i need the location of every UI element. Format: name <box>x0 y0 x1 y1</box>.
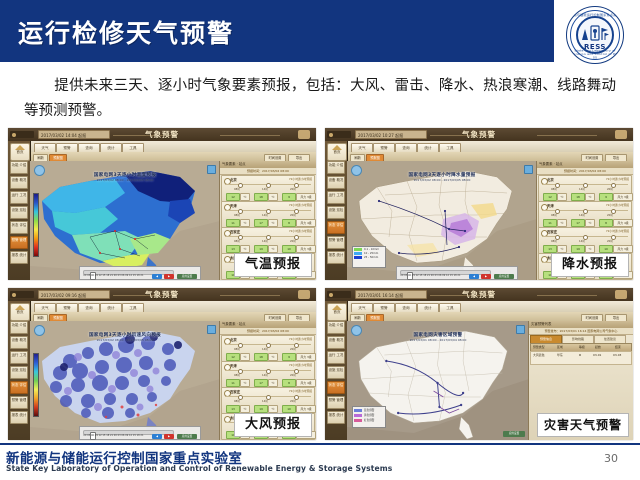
home-icon[interactable] <box>615 290 627 299</box>
nav-home-button[interactable]: 首页 <box>327 143 347 161</box>
panel-caption-wind: 大风预报 <box>234 413 312 437</box>
warning-cell-2: Ⅲ <box>579 353 581 357</box>
timeline-label-a2: 08时 <box>234 399 240 403</box>
page-title: 运行检修天气预警 <box>18 14 234 50</box>
value-chip-b0: 18 <box>254 193 268 201</box>
nav-home-button[interactable]: 首页 <box>327 303 347 321</box>
tab-2[interactable]: 查询 <box>395 143 417 153</box>
tab-1[interactable]: 预警 <box>373 143 395 153</box>
unit-chip-b0: ℃ <box>268 193 278 201</box>
tab-4[interactable]: 工具 <box>439 143 461 153</box>
nav-item-2[interactable]: 运行 工况 <box>10 191 28 204</box>
panel-wind-forecast[interactable]: 2017/03/02 09:16 起报 气象预警 天气 预警 查询 统计 工具 … <box>8 288 316 440</box>
panel-caption-disaster: 灾害天气预警 <box>537 413 629 437</box>
forecast-note-0: 72小时逐小时预报 <box>289 337 312 341</box>
tab-1[interactable]: 预警 <box>373 303 395 313</box>
value-chip-c1: 8 <box>282 219 296 227</box>
timeline-label-b1: 14时 <box>262 373 268 377</box>
tab-1[interactable]: 预警 <box>56 303 78 313</box>
panel-caption-temperature: 气温预报 <box>234 253 312 277</box>
value-chip-a2: 13 <box>226 245 240 253</box>
disaster-legend: 蓝色预警 黄色预警 红色预警 <box>352 406 386 428</box>
value-chip-c1: 8 <box>282 379 296 387</box>
legend-swatch-1 <box>354 252 362 255</box>
time-apply-button[interactable]: 应用设置 <box>177 434 197 439</box>
forecast-values-0: 12 ℃ 18 ℃ 9 风力 3级 <box>224 353 312 359</box>
panel-temperature-forecast[interactable]: 2017/03/02 14:04 起报 气象预警 天气 预警 查询 统计 工具 … <box>8 128 316 280</box>
timeline-label-c2: 20时 <box>290 239 296 243</box>
legend-item-2: 红色预警 <box>354 418 384 422</box>
legend-label-2: 25 - 50mm <box>364 256 378 259</box>
home-icon[interactable] <box>298 130 310 139</box>
value-chip-c0: 9 <box>282 193 296 201</box>
wind-colorbar <box>33 353 39 417</box>
time-prev-button[interactable]: ◀ <box>152 434 162 439</box>
value-chip-b2: 19 <box>254 405 268 413</box>
nav-home-label: 首页 <box>11 150 29 155</box>
unit-chip-b1: ℃ <box>585 219 595 227</box>
forecast-note-0: 72小时逐小时预报 <box>606 177 629 181</box>
home-icon[interactable] <box>298 290 310 299</box>
legend-label-2: 红色预警 <box>364 418 374 422</box>
tab-3[interactable]: 统计 <box>417 303 439 313</box>
unit-chip-b1: ℃ <box>268 219 278 227</box>
tail-chip-2: 风力 3级 <box>613 245 633 253</box>
timeline-label-a0: 08时 <box>234 187 240 191</box>
legend-label-1: 10 - 25mm <box>364 252 378 255</box>
tail-chip-1: 风力 4级 <box>296 219 316 227</box>
timeline-label-b2: 14时 <box>262 239 268 243</box>
nav-item-0[interactable]: 功能 介绍 <box>327 321 345 334</box>
tail-chip-2: 风力 3级 <box>296 405 316 413</box>
legend-swatch-0 <box>354 248 362 251</box>
tab-0[interactable]: 天气 <box>34 143 56 153</box>
value-chip-c1: 8 <box>599 219 613 227</box>
legend-item-1: 黄色预警 <box>354 413 384 417</box>
tab-2[interactable]: 查询 <box>78 303 100 313</box>
map-subtitle: 2017/03/02 08:00 - 2017/03/05 08:00 <box>30 338 220 342</box>
titlebar-rule-right <box>537 295 597 296</box>
value-chip-a0: 12 <box>226 193 240 201</box>
app-nav-rail: 首页 功能 介绍 设备 概况 运行 工况 设施 巡检 状态 评估 预警 管理 报… <box>325 141 348 280</box>
unit-chip-a0: ℃ <box>240 193 250 201</box>
warning-cell-4: 03-03 <box>613 353 621 357</box>
nav-item-4[interactable]: 状态 评估 <box>327 221 345 234</box>
forecast-city-1: 天津 <box>230 203 237 208</box>
unit-chip-a1: ℃ <box>240 219 250 227</box>
table-row[interactable]: 大风蓝色 华东 Ⅲ 03-01 03-03 <box>530 351 632 365</box>
forecast-values-2: 13 ℃ 19 ℃ 10 风力 3级 <box>541 245 629 251</box>
value-chip-c0: 9 <box>599 193 613 201</box>
nav-item-4[interactable]: 状态 评估 <box>327 381 345 394</box>
timeline-label-a1: 08时 <box>234 213 240 217</box>
legend-swatch-1 <box>354 414 362 417</box>
nav-item-4[interactable]: 状态 评估 <box>10 381 28 394</box>
warning-col-0: 预警类型 <box>533 344 545 351</box>
app-titlebar: 2017/03/01 16:14 起报 气象预警 <box>325 288 633 302</box>
forecast-card-2[interactable]: 石家庄 72小时逐小时预报 08时 14时 20时 13 ℃ 19 ℃ 10 <box>221 227 315 254</box>
time-apply-button[interactable]: 应用设置 <box>177 274 197 279</box>
forecast-city-0: 北京 <box>547 177 554 182</box>
nav-item-1[interactable]: 设备 概况 <box>10 336 28 349</box>
timeline-label-a1: 08时 <box>551 213 557 217</box>
forecast-city-1: 天津 <box>547 203 554 208</box>
legend-item-0: 0.1 - 10mm <box>354 248 384 251</box>
nav-item-5[interactable]: 预警 管理 <box>327 396 345 409</box>
footer-divider <box>0 443 640 445</box>
forecast-values-0: 12 ℃ 18 ℃ 9 风力 3级 <box>224 193 312 199</box>
map-time-slider[interactable]: 00 03 06 09 12 15 18 21 00 03 06 09 12 1… <box>79 426 201 440</box>
tail-chip-1: 风力 4级 <box>613 219 633 227</box>
forecast-card-1[interactable]: 天津 72小时逐小时预报 08时 14时 20时 11 ℃ 17 ℃ 8 <box>221 201 315 228</box>
value-chip-a2: 13 <box>543 245 557 253</box>
warning-col-3: 起始 <box>595 344 601 351</box>
forecast-values-2: 13 ℃ 19 ℃ 10 风力 3级 <box>224 245 312 251</box>
time-apply-button[interactable]: 应用设置 <box>494 274 514 279</box>
tail-chip-1: 风力 4级 <box>296 379 316 387</box>
panel-caption-precipitation: 降水预报 <box>551 253 629 277</box>
nav-item-0[interactable]: 功能 介绍 <box>10 161 28 174</box>
timeline-label-a2: 08时 <box>551 239 557 243</box>
nav-item-3[interactable]: 设施 巡检 <box>327 206 345 219</box>
map-subtitle: 2017/03/01 08:00 - 2017/03/04 08:00 <box>347 338 529 342</box>
tail-chip-0: 风力 3级 <box>296 193 316 201</box>
map-canvas-wind[interactable]: 国家电网3天逐小时风速风向预报 2017/03/02 08:00 - 2017/… <box>30 321 220 440</box>
timeline-label-b1: 14时 <box>579 213 585 217</box>
unit-chip-b0: ℃ <box>268 353 278 361</box>
nav-item-0[interactable]: 功能 介绍 <box>10 321 28 334</box>
map-subtitle: 2017/03/02 08:00 - 2017/03/05 08:00 <box>30 178 220 182</box>
timeline-label-c0: 20时 <box>290 347 296 351</box>
value-chip-b1: 17 <box>254 379 268 387</box>
tab-0[interactable]: 天气 <box>351 143 373 153</box>
unit-chip-b2: ℃ <box>268 405 278 413</box>
forecast-note-2: 72小时逐小时预报 <box>606 229 629 233</box>
tail-chip-0: 风力 3级 <box>296 353 316 361</box>
time-play-button[interactable]: ▶ <box>164 274 174 279</box>
unit-chip-a2: ℃ <box>557 245 567 253</box>
nav-item-3[interactable]: 设施 巡检 <box>10 206 28 219</box>
nav-item-1[interactable]: 设备 概况 <box>327 176 345 189</box>
tab-2[interactable]: 查询 <box>78 143 100 153</box>
unit-chip-b0: ℃ <box>585 193 595 201</box>
tail-chip-2: 风力 3级 <box>296 245 316 253</box>
timeline-label-c1: 20时 <box>290 373 296 377</box>
warning-cell-0: 大风蓝色 <box>533 353 545 357</box>
nav-item-5[interactable]: 预警 管理 <box>327 236 345 249</box>
nav-item-6[interactable]: 报表 统计 <box>327 251 345 264</box>
titlebar-rule-right <box>220 295 280 296</box>
value-chip-c2: 10 <box>599 245 613 253</box>
nav-item-4[interactable]: 状态 评估 <box>10 221 28 234</box>
forecast-city-2: 石家庄 <box>230 229 240 234</box>
forecast-city-2: 石家庄 <box>230 389 240 394</box>
legend-item-1: 10 - 25mm <box>354 252 384 255</box>
footer-lab-name-en: State Key Laboratory of Operation and Co… <box>6 464 392 473</box>
legend-label-1: 黄色预警 <box>364 413 374 417</box>
tab-3[interactable]: 统计 <box>100 303 122 313</box>
tab-3[interactable]: 统计 <box>417 143 439 153</box>
titlebar-rule-right <box>537 135 597 136</box>
app-nav-rail: 首页 功能 介绍 设备 概况 运行 工况 设施 巡检 状态 评估 预警 管理 报… <box>325 301 348 440</box>
forecast-note-1: 72小时逐小时预报 <box>606 203 629 207</box>
map-time-slider[interactable]: 00 03 06 09 12 15 18 21 00 03 06 09 12 1… <box>396 266 518 280</box>
titlebar-rule-right <box>220 135 280 136</box>
timeline-label-a2: 08时 <box>234 239 240 243</box>
nav-home-label: 首页 <box>328 150 346 155</box>
nav-item-6[interactable]: 报表 统计 <box>327 411 345 424</box>
nav-home-button[interactable]: 首页 <box>10 303 30 321</box>
time-prev-button[interactable]: ◀ <box>152 274 162 279</box>
value-chip-c0: 9 <box>282 353 296 361</box>
legend-label-0: 0.1 - 10mm <box>364 248 379 251</box>
timeline-label-c1: 20时 <box>290 213 296 217</box>
panel-precipitation-forecast[interactable]: 2017/03/02 10:27 起报 气象预警 天气 预警 查询 统计 工具 … <box>325 128 633 280</box>
legend-label-0: 蓝色预警 <box>364 408 374 412</box>
paragraph-text: 提供未来三天、逐小时气象要素预报，包括：大风、雷击、降水、热浪寒潮、线路舞动等预… <box>24 78 616 119</box>
home-icon[interactable] <box>615 130 627 139</box>
tab-0[interactable]: 天气 <box>351 303 373 313</box>
warning-col-4: 结束 <box>615 344 621 351</box>
timeline-label-b2: 14时 <box>579 239 585 243</box>
nav-item-3[interactable]: 设施 巡检 <box>327 366 345 379</box>
timeline-label-b1: 14时 <box>262 213 268 217</box>
nav-item-3[interactable]: 设施 巡检 <box>10 366 28 379</box>
forecast-values-1: 11 ℃ 17 ℃ 8 风力 4级 <box>541 219 629 225</box>
nav-item-2[interactable]: 运行 工况 <box>327 351 345 364</box>
body-paragraph: 提供未来三天、逐小时气象要素预报，包括：大风、雷击、降水、热浪寒潮、线路舞动等预… <box>24 74 616 125</box>
value-chip-b0: 18 <box>571 193 585 201</box>
map-subtitle: 2017/03/02 08:00 - 2017/03/05 08:00 <box>347 178 537 182</box>
screenshot-panel-grid: 2017/03/02 14:04 起报 气象预警 天气 预警 查询 统计 工具 … <box>8 128 636 440</box>
app-nav-rail: 首页 功能 介绍 设备 概况 运行 工况 设施 巡检 状态 评估 预警 管理 报… <box>8 141 31 280</box>
forecast-city-0: 北京 <box>230 337 237 342</box>
forecast-city-0: 北京 <box>230 177 237 182</box>
temperature-colorbar <box>33 193 39 257</box>
forecast-values-1: 11 ℃ 17 ℃ 8 风力 4级 <box>224 219 312 225</box>
nav-item-1[interactable]: 设备 概况 <box>327 336 345 349</box>
legend-item-2: 25 - 50mm <box>354 256 384 259</box>
warning-table-note: 预警发布：2017/03/01 16:14 国家电网公司气象中心 <box>529 328 633 335</box>
warning-col-2: 等级 <box>579 344 585 351</box>
tab-4[interactable]: 工具 <box>122 143 144 153</box>
nav-item-2[interactable]: 运行 工况 <box>327 191 345 204</box>
logo-plate: 新能源与储能运行控制国家重点实验室 RESS State Key Laborat… <box>554 0 640 70</box>
forecast-note-0: 72小时逐小时预报 <box>289 177 312 181</box>
nav-item-1[interactable]: 设备 概况 <box>10 176 28 189</box>
value-chip-a2: 13 <box>226 405 240 413</box>
timeline-label-b0: 14时 <box>579 187 585 191</box>
timeline-label-a0: 08时 <box>551 187 557 191</box>
timeline-label-c2: 20时 <box>607 239 613 243</box>
forecast-note-1: 72小时逐小时预报 <box>289 203 312 207</box>
ress-emblem-icon: 新能源与储能运行控制国家重点实验室 RESS State Key Laborat… <box>566 6 624 64</box>
forecast-card-1[interactable]: 天津 72小时逐小时预报 08时 14时 20时 11 ℃ 17 ℃ 8 <box>538 201 632 228</box>
unit-chip-a1: ℃ <box>557 219 567 227</box>
timeline-label-b2: 14时 <box>262 399 268 403</box>
app-titlebar: 2017/03/02 10:27 起报 气象预警 <box>325 128 633 142</box>
tab-0[interactable]: 天气 <box>34 303 56 313</box>
nav-item-6[interactable]: 报表 统计 <box>10 411 28 424</box>
timeline-label-c0: 20时 <box>607 187 613 191</box>
value-chip-a1: 11 <box>226 219 240 227</box>
forecast-values-0: 12 ℃ 18 ℃ 9 风力 3级 <box>541 193 629 199</box>
forecast-card-0[interactable]: 北京 72小时逐小时预报 08时 14时 20时 12 ℃ 18 ℃ 9 <box>538 175 632 202</box>
unit-chip-b1: ℃ <box>268 379 278 387</box>
value-chip-b1: 17 <box>254 219 268 227</box>
tab-3[interactable]: 统计 <box>100 143 122 153</box>
value-chip-a1: 11 <box>226 379 240 387</box>
forecast-note-1: 72小时逐小时预报 <box>289 363 312 367</box>
legend-swatch-0 <box>354 409 362 412</box>
value-chip-c2: 10 <box>282 245 296 253</box>
timeline-label-b0: 14时 <box>262 347 268 351</box>
data-panel-subheader: 预报时间：2017/03/02 08:00 <box>220 328 316 335</box>
page-number: 30 <box>604 452 618 465</box>
legend-swatch-2 <box>354 256 362 259</box>
data-panel-subheader: 预报时间：2017/03/02 08:00 <box>537 168 633 175</box>
map-apply-button[interactable]: 应用设置 <box>503 431 525 437</box>
forecast-values-2: 13 ℃ 19 ℃ 10 风力 3级 <box>224 405 312 411</box>
time-play-button[interactable]: ▶ <box>164 434 174 439</box>
value-chip-c2: 10 <box>282 405 296 413</box>
tab-2[interactable]: 查询 <box>395 303 417 313</box>
app-nav-rail: 首页 功能 介绍 设备 概况 运行 工况 设施 巡检 状态 评估 预警 管理 报… <box>8 301 31 440</box>
map-canvas-temperature[interactable]: 国家电网3天逐小时温度预报 2017/03/02 08:00 - 2017/03… <box>30 161 220 280</box>
value-chip-b1: 17 <box>571 219 585 227</box>
unit-chip-b2: ℃ <box>585 245 595 253</box>
forecast-card-2[interactable]: 石家庄 72小时逐小时预报 08时 14时 20时 13 ℃ 19 ℃ 10 <box>538 227 632 254</box>
map-canvas-disaster[interactable]: 国家电网灾害区域预警 2017/03/01 08:00 - 2017/03/04… <box>347 321 529 440</box>
nav-item-2[interactable]: 运行 工况 <box>10 351 28 364</box>
warning-col-1: 区域 <box>557 344 563 351</box>
timeline-label-a1: 08时 <box>234 373 240 377</box>
unit-chip-a1: ℃ <box>240 379 250 387</box>
value-chip-a0: 12 <box>543 193 557 201</box>
nav-home-label: 首页 <box>11 310 29 315</box>
tab-4[interactable]: 工具 <box>122 303 144 313</box>
value-chip-b2: 19 <box>571 245 585 253</box>
forecast-card-2[interactable]: 石家庄 72小时逐小时预报 08时 14时 20时 13 ℃ 19 ℃ 10 <box>221 387 315 414</box>
nav-item-5[interactable]: 预警 管理 <box>10 236 28 249</box>
forecast-note-2: 72小时逐小时预报 <box>289 229 312 233</box>
map-time-slider[interactable]: 00 03 06 09 12 15 18 21 00 03 06 09 12 1… <box>79 266 201 280</box>
nav-item-6[interactable]: 报表 统计 <box>10 251 28 264</box>
forecast-note-2: 72小时逐小时预报 <box>289 389 312 393</box>
time-prev-button[interactable]: ◀ <box>469 274 479 279</box>
nav-item-5[interactable]: 预警 管理 <box>10 396 28 409</box>
unit-chip-a0: ℃ <box>240 353 250 361</box>
nav-home-label: 首页 <box>328 310 346 315</box>
value-chip-b2: 19 <box>254 245 268 253</box>
value-chip-b0: 18 <box>254 353 268 361</box>
legend-swatch-2 <box>354 419 362 422</box>
forecast-card-0[interactable]: 北京 72小时逐小时预报 08时 14时 20时 12 ℃ 18 ℃ 9 <box>221 335 315 362</box>
forecast-city-2: 石家庄 <box>547 229 557 234</box>
nav-home-button[interactable]: 首页 <box>10 143 30 161</box>
warning-cell-1: 华东 <box>557 353 563 357</box>
timeline-label-b0: 14时 <box>262 187 268 191</box>
unit-chip-b2: ℃ <box>268 245 278 253</box>
data-panel-subheader: 预报时间：2017/03/02 08:00 <box>220 168 316 175</box>
timeline-label-a0: 08时 <box>234 347 240 351</box>
legend-item-0: 蓝色预警 <box>354 408 384 412</box>
emblem-arc-bottom-text: State Key Laboratory of Operation and Co… <box>567 49 623 60</box>
unit-chip-a0: ℃ <box>557 193 567 201</box>
timeline-label-c1: 20时 <box>607 213 613 217</box>
forecast-city-1: 天津 <box>230 363 237 368</box>
value-chip-a1: 11 <box>543 219 557 227</box>
tail-chip-0: 风力 3级 <box>613 193 633 201</box>
nav-item-0[interactable]: 功能 介绍 <box>327 161 345 174</box>
value-chip-a0: 12 <box>226 353 240 361</box>
forecast-card-0[interactable]: 北京 72小时逐小时预报 08时 14时 20时 12 ℃ 18 ℃ 9 <box>221 175 315 202</box>
time-play-button[interactable]: ▶ <box>481 274 491 279</box>
app-titlebar: 2017/03/02 14:04 起报 气象预警 <box>8 128 316 142</box>
emblem-glyph-icon <box>580 24 610 44</box>
timeline-label-c0: 20时 <box>290 187 296 191</box>
forecast-card-1[interactable]: 天津 72小时逐小时预报 08时 14时 20时 11 ℃ 17 ℃ 8 <box>221 361 315 388</box>
tab-4[interactable]: 工具 <box>439 303 461 313</box>
panel-disaster-warning[interactable]: 2017/03/01 16:14 起报 气象预警 天气 预警 查询 统计 工具 … <box>325 288 633 440</box>
forecast-values-1: 11 ℃ 17 ℃ 8 风力 4级 <box>224 379 312 385</box>
map-canvas-precipitation[interactable]: 国家电网3天逐小时降水量预报 2017/03/02 08:00 - 2017/0… <box>347 161 537 280</box>
timeline-label-c2: 20时 <box>290 399 296 403</box>
unit-chip-a2: ℃ <box>240 245 250 253</box>
tab-1[interactable]: 预警 <box>56 143 78 153</box>
precipitation-legend: 0.1 - 10mm 10 - 25mm 25 - 50mm <box>352 246 386 268</box>
emblem-arc-top-text: 新能源与储能运行控制国家重点实验室 <box>567 12 623 17</box>
warning-cell-3: 03-01 <box>593 353 601 357</box>
unit-chip-a2: ℃ <box>240 405 250 413</box>
app-titlebar: 2017/03/02 09:16 起报 气象预警 <box>8 288 316 302</box>
